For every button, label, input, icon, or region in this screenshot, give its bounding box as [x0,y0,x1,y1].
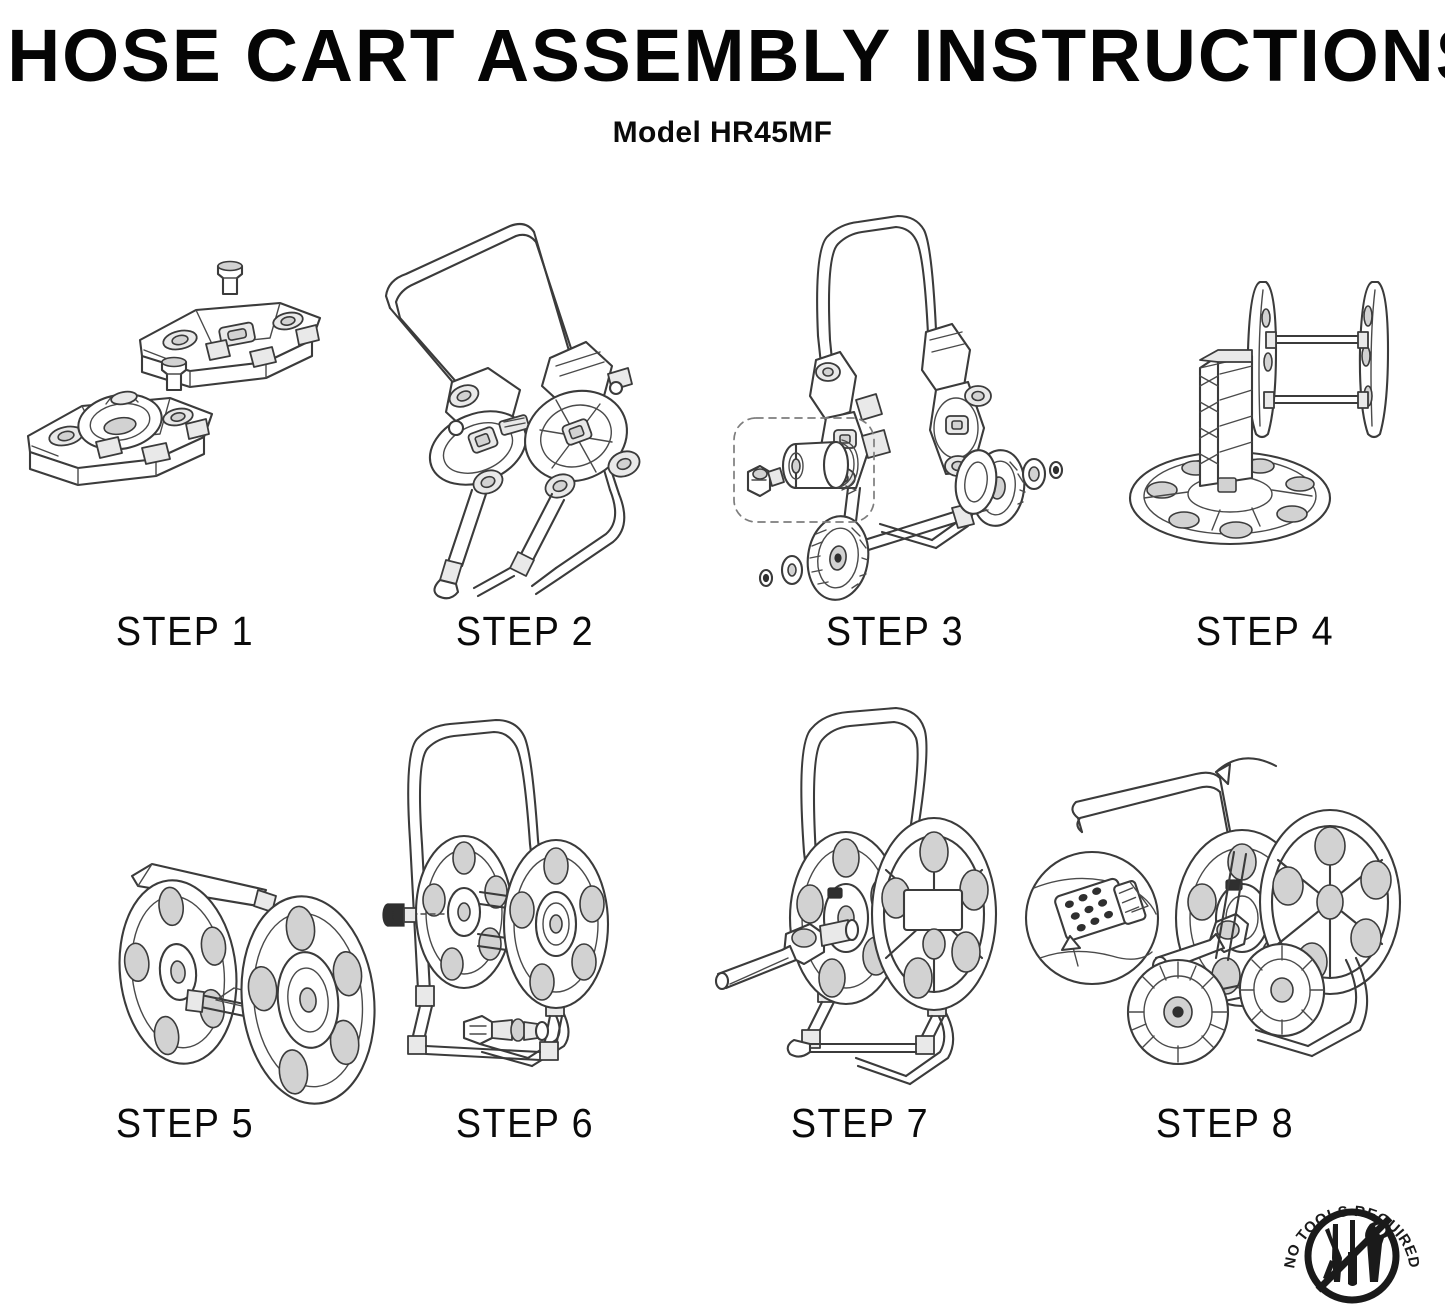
assembled-reel-drum [111,864,385,1110]
washer-cap-left [760,556,802,586]
step-8-label: STEP 8 [1036,1100,1413,1146]
step-2-label: STEP 2 [373,608,677,654]
step-5-illustration [20,700,350,1100]
page-title: HOSE CART ASSEMBLY INSTRUCTIONS [7,16,1438,96]
reel-discs-side-view [1248,282,1388,437]
fold-arrow [1216,758,1276,784]
step-5-label: STEP 5 [33,1100,337,1146]
reel-assembly [790,818,996,1010]
step-1: STEP 1 [20,190,350,660]
step-2: STEP 2 [360,190,690,660]
step-6-label: STEP 6 [373,1100,677,1146]
step-1-label: STEP 1 [33,608,337,654]
inlet-connector [464,1016,548,1044]
step-2-illustration [360,190,690,610]
wheel-front [1128,960,1228,1064]
step-3: STEP 3 [730,190,1060,660]
reel-assembly [416,836,608,1008]
step-8: STEP 8 [1020,700,1430,1170]
reel-disc-with-hub-column [1130,350,1330,544]
step-7: STEP 7 [690,700,1030,1170]
step-5: STEP 5 [20,700,350,1170]
leg-left [434,490,486,598]
step-3-illustration [730,190,1070,610]
step-4: STEP 4 [1100,190,1430,660]
push-pin-upper [218,262,242,295]
hub-bracket-left [419,368,537,498]
step-1-illustration [20,190,350,610]
step-4-label: STEP 4 [1113,608,1417,654]
wheel-left [802,512,873,604]
step-8-latch-detail [1026,852,1158,984]
instruction-sheet: HOSE CART ASSEMBLY INSTRUCTIONS Model HR… [0,0,1445,1314]
step-4-illustration [1100,190,1430,610]
no-tools-required-badge: NO TOOLS REQUIRED [1278,1190,1428,1308]
step-6-illustration [360,700,690,1100]
model-subtitle: Model HR45MF [0,115,1445,151]
leg-right [474,494,564,596]
step-7-illustration [690,700,1030,1100]
step-8-illustration [1020,700,1430,1100]
step-6: STEP 6 [360,700,690,1170]
hub-bracket-right [511,342,643,502]
step-3-label: STEP 3 [743,608,1047,654]
step-7-label: STEP 7 [704,1100,1017,1146]
